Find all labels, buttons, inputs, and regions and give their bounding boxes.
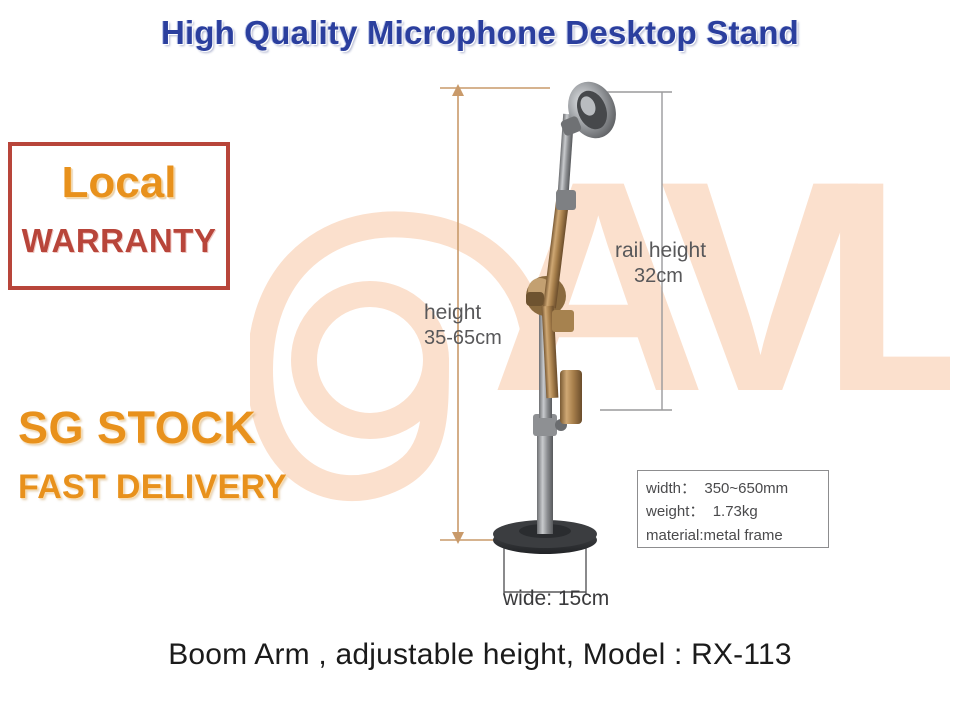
dimension-wide: wide: 15cm bbox=[503, 586, 609, 612]
dimension-rail-value: 32cm bbox=[634, 264, 706, 289]
dimension-wide-value: 15cm bbox=[558, 587, 609, 610]
fast-delivery-text: FAST DELIVERY bbox=[18, 468, 287, 507]
dimension-height-value: 35-65cm bbox=[424, 326, 502, 351]
sg-stock-text: SG STOCK bbox=[18, 402, 256, 454]
dimension-rail-height: rail height 32cm bbox=[615, 238, 706, 289]
poster-headline: High Quality Microphone Desktop Stand bbox=[0, 14, 960, 52]
spec-material: material:metal frame bbox=[646, 524, 820, 547]
dimension-wide-label: wide: bbox=[503, 587, 552, 610]
spec-box: width： 350~650mm weight： 1.73kg material… bbox=[637, 470, 829, 548]
footer-text: Boom Arm , adjustable height, Model : RX… bbox=[168, 638, 792, 671]
warranty-local-text: Local bbox=[12, 158, 226, 208]
poster-footer: Boom Arm , adjustable height, Model : RX… bbox=[0, 638, 960, 672]
warranty-label-text: WARRANTY bbox=[12, 222, 226, 260]
spec-weight: weight： 1.73kg bbox=[646, 500, 820, 523]
local-warranty-badge: Local WARRANTY bbox=[8, 142, 230, 290]
dimension-rail-label: rail height bbox=[615, 238, 706, 264]
dimension-height-label: height bbox=[424, 300, 502, 326]
dimension-height: height 35-65cm bbox=[424, 300, 502, 351]
product-poster: A V L High Quality Microphone Desktop St… bbox=[0, 0, 960, 720]
headline-text: High Quality Microphone Desktop Stand bbox=[161, 14, 799, 52]
spec-width: width： 350~650mm bbox=[646, 477, 820, 500]
